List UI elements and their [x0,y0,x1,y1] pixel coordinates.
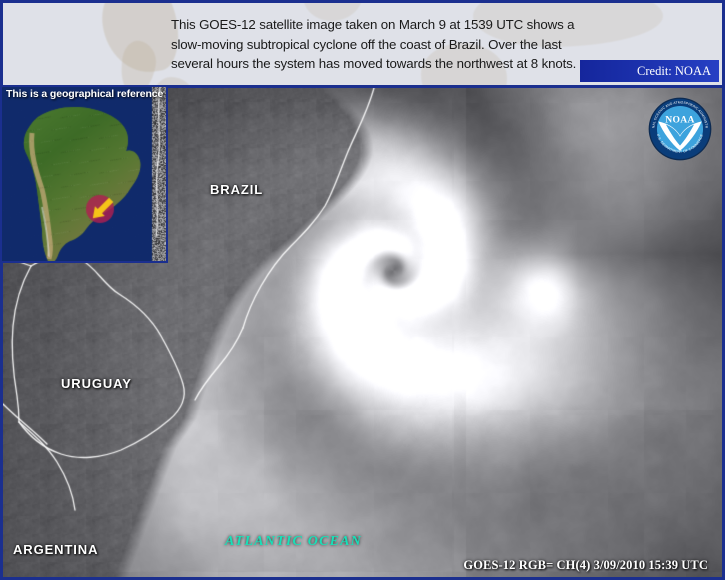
geographical-reference-title: This is a geographical reference [6,88,163,100]
credit-badge: Credit: NOAA [580,60,719,82]
noaa-seal-icon: NOAA NATIONAL OCEANIC AND ATMOSPHERIC AD… [648,97,712,161]
caption-text: This GOES-12 satellite image taken on Ma… [171,15,641,74]
svg-text:NOAA: NOAA [665,115,694,126]
noaa-logo: NOAA NATIONAL OCEANIC AND ATMOSPHERIC AD… [648,97,712,161]
geographical-reference-inset: This is a geographical reference [0,85,168,263]
satellite-image-page: This GOES-12 satellite image taken on Ma… [0,0,725,580]
caption-bar: This GOES-12 satellite image taken on Ma… [0,0,725,88]
south-america-reference-map [2,87,166,261]
